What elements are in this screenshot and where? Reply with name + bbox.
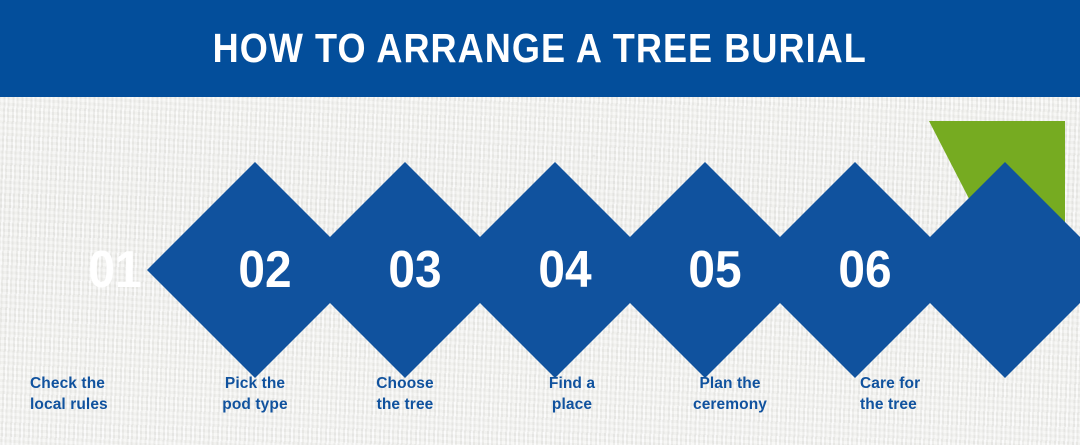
step-label-5-line1: Plan the	[655, 373, 805, 394]
step-label-4: Find a place	[497, 373, 647, 415]
step-label-2-line2: pod type	[180, 394, 330, 415]
step-label-1: Check the local rules	[30, 373, 180, 415]
infographic-canvas: HOW TO ARRANGE A TREE BURIAL	[0, 0, 1080, 445]
step-label-5: Plan the ceremony	[655, 373, 805, 415]
step-label-6: Care for the tree	[860, 373, 1010, 415]
header-banner: HOW TO ARRANGE A TREE BURIAL	[0, 0, 1080, 97]
step-label-2-line1: Pick the	[180, 373, 330, 394]
step-label-1-line1: Check the	[30, 373, 180, 394]
page-title: HOW TO ARRANGE A TREE BURIAL	[213, 25, 867, 72]
step-label-3: Choose the tree	[330, 373, 480, 415]
step-label-3-line1: Choose	[330, 373, 480, 394]
step-label-2: Pick the pod type	[180, 373, 330, 415]
step-label-6-line1: Care for	[860, 373, 1010, 394]
step-label-4-line1: Find a	[497, 373, 647, 394]
step-label-5-line2: ceremony	[655, 394, 805, 415]
step-diamond-1[interactable]	[147, 162, 363, 378]
step-label-3-line2: the tree	[330, 394, 480, 415]
step-label-1-line2: local rules	[30, 394, 180, 415]
step-label-4-line2: place	[497, 394, 647, 415]
step-label-6-line2: the tree	[860, 394, 1010, 415]
step-diamonds	[147, 162, 1080, 378]
